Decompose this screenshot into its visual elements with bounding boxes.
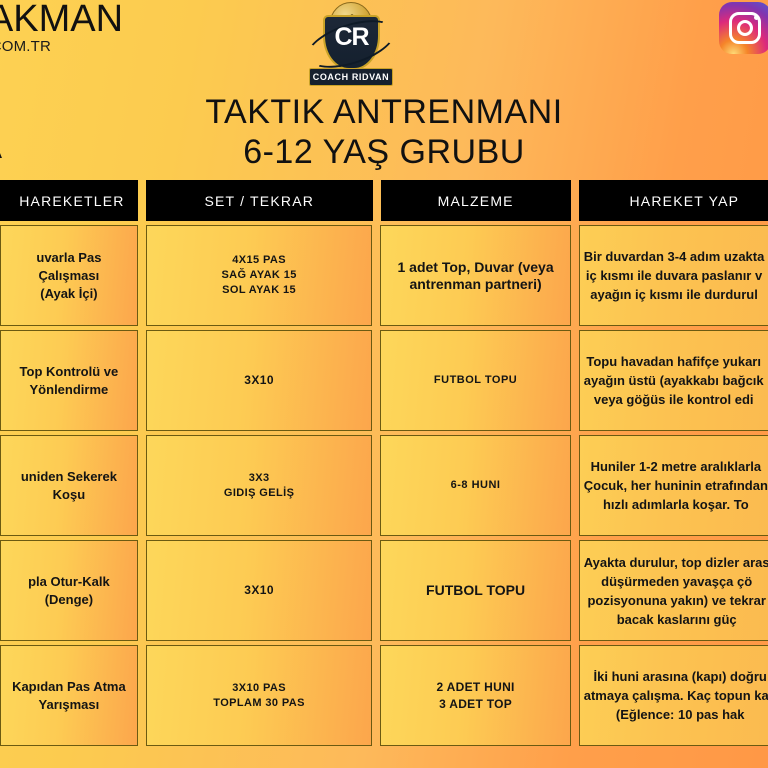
column-header-hareket-yapilisi: HAREKET YAP bbox=[579, 180, 768, 221]
column-gap bbox=[571, 328, 579, 433]
column-gap bbox=[372, 643, 380, 748]
poster-header: N AKMAN VAN.COM.TR BA CR COACH RIDVAN TA… bbox=[0, 0, 768, 178]
column-gap bbox=[138, 643, 146, 748]
column-gap bbox=[372, 223, 380, 328]
logo-nameplate: COACH RIDVAN bbox=[309, 68, 393, 86]
brand-website: VAN.COM.TR bbox=[0, 38, 51, 55]
instagram-lens bbox=[737, 20, 753, 36]
poster-title-line1: TAKTIK ANTRENMANI bbox=[0, 93, 768, 132]
cell-malzeme: 1 adet Top, Duvar (veya antrenman partne… bbox=[380, 225, 570, 326]
training-table: HAREKETLER SET / TEKRAR MALZEME HAREKET … bbox=[0, 178, 768, 748]
table-row: pla Otur-Kalk (Denge) 3X10 FUTBOL TOPU A… bbox=[0, 538, 768, 643]
column-header-set-tekrar: SET / TEKRAR bbox=[146, 180, 373, 221]
column-gap bbox=[138, 223, 146, 328]
cell-hareket: uniden Sekerek Koşu bbox=[0, 435, 138, 536]
column-gap bbox=[138, 433, 146, 538]
table-header-row: HAREKETLER SET / TEKRAR MALZEME HAREKET … bbox=[0, 178, 768, 223]
cell-set-tekrar: 3X3 GIDIŞ GELİŞ bbox=[146, 435, 373, 536]
cell-malzeme: FUTBOL TOPU bbox=[380, 540, 570, 641]
instagram-icon[interactable] bbox=[719, 2, 768, 54]
column-gap bbox=[138, 178, 146, 223]
column-header-malzeme: MALZEME bbox=[381, 180, 571, 221]
cell-aciklama: Huniler 1-2 metre aralıklarla Çocuk, her… bbox=[579, 435, 768, 536]
table-row: Top Kontrolü ve Yönlendirme 3X10 FUTBOL … bbox=[0, 328, 768, 433]
cell-hareket: pla Otur-Kalk (Denge) bbox=[0, 540, 138, 641]
cell-malzeme: FUTBOL TOPU bbox=[380, 330, 570, 431]
cell-set-tekrar: 3X10 PAS TOPLAM 30 PAS bbox=[146, 645, 373, 746]
column-gap bbox=[571, 433, 579, 538]
column-gap bbox=[372, 538, 380, 643]
cell-aciklama: Ayakta durulur, top dizler aras düşürmed… bbox=[579, 540, 768, 641]
column-gap bbox=[373, 178, 381, 223]
cell-set-tekrar: 4X15 PAS SAĞ AYAK 15 SOL AYAK 15 bbox=[146, 225, 373, 326]
cell-aciklama: Bir duvardan 3-4 adım uzakta iç kısmı il… bbox=[579, 225, 768, 326]
cell-set-tekrar: 3X10 bbox=[146, 540, 373, 641]
column-gap bbox=[138, 328, 146, 433]
poster-title-line2: 6-12 YAŞ GRUBU bbox=[0, 133, 768, 172]
table-row: Kapıdan Pas Atma Yarışması 3X10 PAS TOPL… bbox=[0, 643, 768, 748]
cell-malzeme: 2 ADET HUNI 3 ADET TOP bbox=[380, 645, 570, 746]
column-gap bbox=[571, 223, 579, 328]
column-gap bbox=[571, 178, 579, 223]
brand-name: N AKMAN bbox=[0, 0, 123, 41]
cell-aciklama: İki huni arasına (kapı) doğru atmaya çal… bbox=[579, 645, 768, 746]
logo-initials: CR bbox=[323, 20, 380, 54]
column-gap bbox=[571, 538, 579, 643]
cell-hareket: Top Kontrolü ve Yönlendirme bbox=[0, 330, 138, 431]
column-header-hareketler: HAREKETLER bbox=[0, 180, 138, 221]
table-row: uvarla Pas Çalışması (Ayak İçi) 4X15 PAS… bbox=[0, 223, 768, 328]
cell-aciklama: Topu havadan hafifçe yukarı ayağın üstü … bbox=[579, 330, 768, 431]
cell-malzeme: 6-8 HUNI bbox=[380, 435, 570, 536]
table-row: uniden Sekerek Koşu 3X3 GIDIŞ GELİŞ 6-8 … bbox=[0, 433, 768, 538]
column-gap bbox=[372, 433, 380, 538]
coach-ridvan-logo: CR COACH RIDVAN bbox=[303, 2, 399, 88]
instagram-dot bbox=[754, 15, 759, 20]
cell-set-tekrar: 3X10 bbox=[146, 330, 373, 431]
column-gap bbox=[372, 328, 380, 433]
cell-hareket: Kapıdan Pas Atma Yarışması bbox=[0, 645, 138, 746]
column-gap bbox=[138, 538, 146, 643]
column-gap bbox=[571, 643, 579, 748]
cell-hareket: uvarla Pas Çalışması (Ayak İçi) bbox=[0, 225, 138, 326]
